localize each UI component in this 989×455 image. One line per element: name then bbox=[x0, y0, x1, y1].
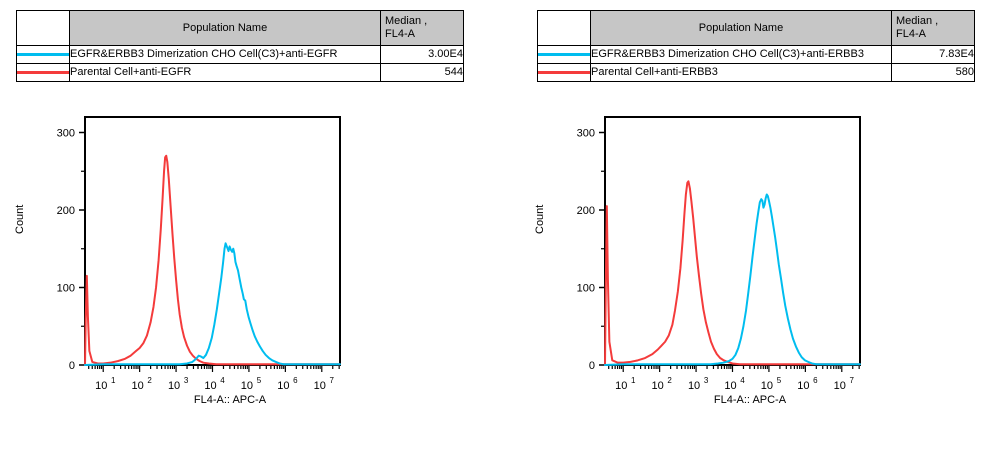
table-row: EGFR&ERBB3 Dimerization CHO Cell(C3)+ant… bbox=[538, 46, 975, 64]
red-legend-swatch bbox=[538, 71, 590, 74]
svg-text:0: 0 bbox=[589, 360, 595, 372]
table-row: EGFR&ERBB3 Dimerization CHO Cell(C3)+ant… bbox=[17, 46, 464, 64]
legend-header-row: Population Name Median , FL4-A bbox=[17, 11, 464, 46]
svg-text:2: 2 bbox=[667, 376, 672, 385]
red-legend-swatch-cell bbox=[538, 64, 591, 82]
legend-header-swatch-cell bbox=[17, 11, 70, 46]
svg-text:100: 100 bbox=[57, 283, 75, 295]
svg-text:7: 7 bbox=[330, 376, 335, 385]
population-name-value: EGFR&ERBB3 Dimerization CHO Cell(C3)+ant… bbox=[591, 46, 892, 64]
median-value: 544 bbox=[381, 64, 464, 82]
svg-text:6: 6 bbox=[293, 376, 298, 385]
legend-header-row: Population Name Median , FL4-A bbox=[538, 11, 975, 46]
svg-text:10: 10 bbox=[652, 380, 664, 392]
svg-text:10: 10 bbox=[241, 380, 253, 392]
svg-text:5: 5 bbox=[257, 376, 262, 385]
legend-header-median-line2: FL4-A bbox=[896, 28, 926, 40]
svg-text:200: 200 bbox=[577, 205, 595, 217]
median-value: 7.83E4 bbox=[892, 46, 975, 64]
table-row: Parental Cell+anti-ERBB3 580 bbox=[538, 64, 975, 82]
histogram-plot-right: 0100200300101102103104105106107 Count FL… bbox=[520, 104, 989, 455]
svg-text:300: 300 bbox=[577, 128, 595, 140]
svg-text:1: 1 bbox=[111, 376, 116, 385]
red-legend-swatch bbox=[17, 71, 69, 74]
svg-text:3: 3 bbox=[704, 376, 709, 385]
svg-text:7: 7 bbox=[850, 376, 855, 385]
svg-text:10: 10 bbox=[314, 380, 326, 392]
legend-header-population-name: Population Name bbox=[591, 11, 892, 46]
population-name-value: EGFR&ERBB3 Dimerization CHO Cell(C3)+ant… bbox=[70, 46, 381, 64]
table-row: Parental Cell+anti-EGFR 544 bbox=[17, 64, 464, 82]
population-name-value: Parental Cell+anti-EGFR bbox=[70, 64, 381, 82]
median-value: 580 bbox=[892, 64, 975, 82]
cyan-legend-swatch-cell bbox=[538, 46, 591, 64]
svg-text:10: 10 bbox=[724, 380, 736, 392]
population-name-value: Parental Cell+anti-ERBB3 bbox=[591, 64, 892, 82]
svg-text:0: 0 bbox=[69, 360, 75, 372]
svg-text:3: 3 bbox=[184, 376, 189, 385]
svg-text:6: 6 bbox=[813, 376, 818, 385]
svg-text:10: 10 bbox=[95, 380, 107, 392]
legend-header-median: Median , FL4-A bbox=[892, 11, 975, 46]
svg-text:10: 10 bbox=[277, 380, 289, 392]
svg-text:10: 10 bbox=[168, 380, 180, 392]
legend-header-median-line2: FL4-A bbox=[385, 28, 415, 40]
svg-text:200: 200 bbox=[57, 205, 75, 217]
svg-text:300: 300 bbox=[57, 128, 75, 140]
legend-header-swatch-cell bbox=[538, 11, 591, 46]
svg-text:10: 10 bbox=[688, 380, 700, 392]
cyan-legend-swatch bbox=[17, 53, 69, 56]
legend-table-right: Population Name Median , FL4-A EGFR&ERBB… bbox=[537, 10, 975, 82]
svg-text:100: 100 bbox=[577, 283, 595, 295]
panel-right: Population Name Median , FL4-A EGFR&ERBB… bbox=[495, 0, 989, 455]
svg-text:5: 5 bbox=[777, 376, 782, 385]
svg-text:10: 10 bbox=[615, 380, 627, 392]
svg-text:10: 10 bbox=[797, 380, 809, 392]
y-axis-title: Count bbox=[534, 205, 546, 234]
legend-header-median-line1: Median , bbox=[896, 15, 938, 27]
svg-text:4: 4 bbox=[220, 376, 225, 385]
red-legend-swatch-cell bbox=[17, 64, 70, 82]
svg-text:10: 10 bbox=[761, 380, 773, 392]
legend-header-population-name: Population Name bbox=[70, 11, 381, 46]
cyan-legend-swatch-cell bbox=[17, 46, 70, 64]
histogram-plot-left: 0100200300101102103104105106107 Count FL… bbox=[0, 104, 494, 455]
legend-header-median-line1: Median , bbox=[385, 15, 427, 27]
svg-text:4: 4 bbox=[740, 376, 745, 385]
legend-table-left: Population Name Median , FL4-A EGFR&ERBB… bbox=[16, 10, 464, 82]
x-axis-title: FL4-A:: APC-A bbox=[100, 394, 360, 406]
x-axis-title: FL4-A:: APC-A bbox=[620, 394, 880, 406]
panel-left: Population Name Median , FL4-A EGFR&ERBB… bbox=[0, 0, 494, 455]
median-value: 3.00E4 bbox=[381, 46, 464, 64]
svg-text:10: 10 bbox=[204, 380, 216, 392]
svg-text:10: 10 bbox=[132, 380, 144, 392]
cyan-legend-swatch bbox=[538, 53, 590, 56]
svg-text:2: 2 bbox=[147, 376, 152, 385]
y-axis-title: Count bbox=[14, 205, 26, 234]
legend-header-median: Median , FL4-A bbox=[381, 11, 464, 46]
svg-text:1: 1 bbox=[631, 376, 636, 385]
svg-text:10: 10 bbox=[834, 380, 846, 392]
